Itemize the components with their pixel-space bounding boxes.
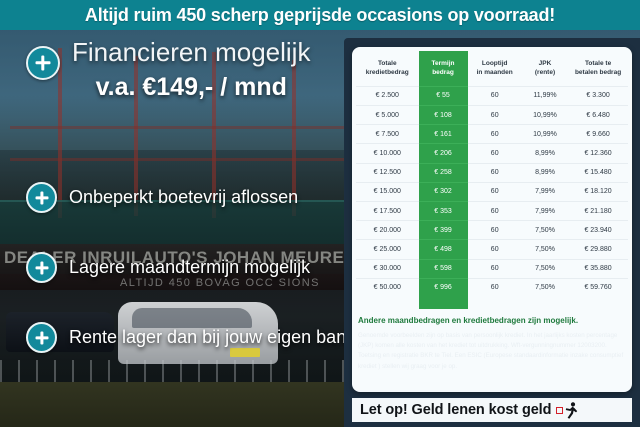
- rates-cell: 60: [468, 240, 522, 259]
- promo-left-column: Financieren mogelijk v.a. €149,- / mnd O…: [0, 30, 352, 427]
- rates-cell: € 12.360: [568, 144, 628, 163]
- rates-cell: € 3.300: [568, 86, 628, 105]
- rates-row: € 17.500€ 353607,99%€ 21.180: [356, 201, 628, 220]
- rates-cell: 10,99%: [522, 106, 568, 125]
- rates-column-header-line: in maanden: [469, 68, 521, 77]
- rates-column-header: Totalekredietbedrag: [356, 51, 419, 86]
- rates-cell: 60: [468, 125, 522, 144]
- disclaimer-block: Andere maandbedragen en kredietbedragen …: [352, 316, 632, 372]
- rates-column-header-line: (rente): [523, 68, 567, 77]
- rates-cell: € 15.480: [568, 163, 628, 182]
- rates-table-head: TotalekredietbedragTermijnbedragLooptijd…: [356, 51, 628, 86]
- headline-line-1: Financieren mogelijk: [72, 38, 310, 68]
- plus-icon: [26, 252, 57, 283]
- top-banner-text: Altijd ruim 450 scherp geprijsde occasio…: [85, 5, 555, 26]
- rates-cell: € 15.000: [356, 182, 419, 201]
- rates-row: € 5.000€ 1086010,99%€ 6.480: [356, 106, 628, 125]
- plus-icon: [26, 46, 60, 80]
- rates-column-header-line: bedrag: [420, 68, 467, 77]
- rates-table: TotalekredietbedragTermijnbedragLooptijd…: [356, 51, 628, 309]
- rates-row: € 25.000€ 498607,50%€ 29.880: [356, 240, 628, 259]
- rates-cell: € 598: [419, 259, 468, 278]
- warning-bar: Let op! Geld lenen kost geld: [352, 398, 632, 422]
- rates-cell: € 59.760: [568, 278, 628, 297]
- rates-cell: € 55: [419, 86, 468, 105]
- rates-row: € 12.500€ 258608,99%€ 15.480: [356, 163, 628, 182]
- rates-cell: € 258: [419, 163, 468, 182]
- rates-cell: € 5.000: [356, 106, 419, 125]
- rates-cell: € 2.500: [356, 86, 419, 105]
- rates-cell: € 161: [419, 125, 468, 144]
- rates-column-header-line: Totale: [357, 59, 418, 68]
- rates-cell: € 18.120: [568, 182, 628, 201]
- rates-cell: 10,99%: [522, 125, 568, 144]
- rates-column-header-line: JPK: [523, 59, 567, 68]
- rates-cell: € 353: [419, 201, 468, 220]
- rates-cell: 8,99%: [522, 163, 568, 182]
- rates-cell: 60: [468, 144, 522, 163]
- rates-column-header-line: Totale te: [569, 59, 627, 68]
- rates-column-header: JPK(rente): [522, 51, 568, 86]
- rates-cell: 60: [468, 278, 522, 297]
- rates-cell: 60: [468, 86, 522, 105]
- rates-cell: 7,50%: [522, 278, 568, 297]
- benefit-item-2: Lagere maandtermijn mogelijk: [26, 252, 356, 283]
- rates-header-row: TotalekredietbedragTermijnbedragLooptijd…: [356, 51, 628, 86]
- plus-icon: [26, 182, 57, 213]
- rates-cell: 7,50%: [522, 240, 568, 259]
- rates-highlight-footer: [356, 297, 628, 309]
- headline-line-2: v.a. €149,- / mnd: [72, 72, 310, 102]
- rates-cell: 7,50%: [522, 259, 568, 278]
- rates-row: € 20.000€ 399607,50%€ 23.940: [356, 221, 628, 240]
- rates-cell: 8,99%: [522, 144, 568, 163]
- rates-cell: 7,99%: [522, 182, 568, 201]
- headline-block: Financieren mogelijk v.a. €149,- / mnd: [26, 46, 344, 102]
- rates-footer-cell: [468, 297, 522, 309]
- rates-cell: € 108: [419, 106, 468, 125]
- rates-cell: € 23.940: [568, 221, 628, 240]
- rates-column-header-line: Termijn: [420, 59, 467, 68]
- rates-cell: € 498: [419, 240, 468, 259]
- rates-cell: 60: [468, 201, 522, 220]
- rates-cell: € 7.500: [356, 125, 419, 144]
- rates-column-header-line: Looptijd: [469, 59, 521, 68]
- rates-column-header: Termijnbedrag: [419, 51, 468, 86]
- rates-row: € 15.000€ 302607,99%€ 18.120: [356, 182, 628, 201]
- rates-cell: 11,99%: [522, 86, 568, 105]
- afm-running-man-icon: [556, 402, 578, 419]
- rates-column-header-line: betalen bedrag: [569, 68, 627, 77]
- rates-cell: 60: [468, 182, 522, 201]
- rates-cell: € 6.480: [568, 106, 628, 125]
- rates-cell: 7,99%: [522, 201, 568, 220]
- rates-footer-cell: [356, 297, 419, 309]
- rates-cell: € 9.660: [568, 125, 628, 144]
- rates-cell: € 29.880: [568, 240, 628, 259]
- rates-cell: € 50.000: [356, 278, 419, 297]
- rates-footer-cell: [522, 297, 568, 309]
- benefit-item-3: Rente lager dan bij jouw eigen bank: [26, 322, 356, 353]
- rates-column-header: Looptijdin maanden: [468, 51, 522, 86]
- rates-cell: € 17.500: [356, 201, 419, 220]
- rates-cell: € 12.500: [356, 163, 419, 182]
- rates-cell: 7,50%: [522, 221, 568, 240]
- benefit-label-3: Rente lager dan bij jouw eigen bank: [69, 327, 355, 348]
- rates-cell: € 20.000: [356, 221, 419, 240]
- rates-cell: 60: [468, 259, 522, 278]
- rates-cell: € 35.880: [568, 259, 628, 278]
- rates-row: € 7.500€ 1616010,99%€ 9.660: [356, 125, 628, 144]
- rates-column-header: Totale tebetalen bedrag: [568, 51, 628, 86]
- rates-cell: € 996: [419, 278, 468, 297]
- rates-cell: 60: [468, 221, 522, 240]
- warning-text: Let op! Geld lenen kost geld: [360, 402, 551, 418]
- rates-cell: € 206: [419, 144, 468, 163]
- rates-cell: 60: [468, 163, 522, 182]
- rates-table-body: € 2.500€ 556011,99%€ 3.300€ 5.000€ 10860…: [356, 86, 628, 309]
- rates-cell: € 302: [419, 182, 468, 201]
- disclaimer-body: Genoemde voorbeelden zijn op basis van p…: [352, 326, 632, 371]
- headline-text-group: Financieren mogelijk v.a. €149,- / mnd: [72, 38, 310, 102]
- rates-row: € 2.500€ 556011,99%€ 3.300: [356, 86, 628, 105]
- rates-cell: € 21.180: [568, 201, 628, 220]
- rates-row: € 50.000€ 996607,50%€ 59.760: [356, 278, 628, 297]
- benefit-item-1: Onbeperkt boetevrij aflossen: [26, 182, 356, 213]
- advertisement-banner: DEALER INRUILAUTO'S JOHAN MEURE ALTIJD 4…: [0, 0, 640, 427]
- rates-footer-cell: [419, 297, 468, 309]
- rates-footer-cell: [568, 297, 628, 309]
- top-banner: Altijd ruim 450 scherp geprijsde occasio…: [0, 0, 640, 30]
- rates-row: € 30.000€ 598607,50%€ 35.880: [356, 259, 628, 278]
- rates-column-header-line: kredietbedrag: [357, 68, 418, 77]
- rates-table-wrapper: TotalekredietbedragTermijnbedragLooptijd…: [352, 47, 632, 309]
- rates-cell: 60: [468, 106, 522, 125]
- rates-cell: € 30.000: [356, 259, 419, 278]
- benefit-label-1: Onbeperkt boetevrij aflossen: [69, 187, 298, 208]
- disclaimer-title: Andere maandbedragen en kredietbedragen …: [352, 316, 632, 326]
- plus-icon: [26, 322, 57, 353]
- rates-row: € 10.000€ 206608,99%€ 12.360: [356, 144, 628, 163]
- rates-cell: € 399: [419, 221, 468, 240]
- rates-cell: € 10.000: [356, 144, 419, 163]
- rates-cell: € 25.000: [356, 240, 419, 259]
- benefit-label-2: Lagere maandtermijn mogelijk: [69, 257, 310, 278]
- afm-square: [556, 407, 563, 414]
